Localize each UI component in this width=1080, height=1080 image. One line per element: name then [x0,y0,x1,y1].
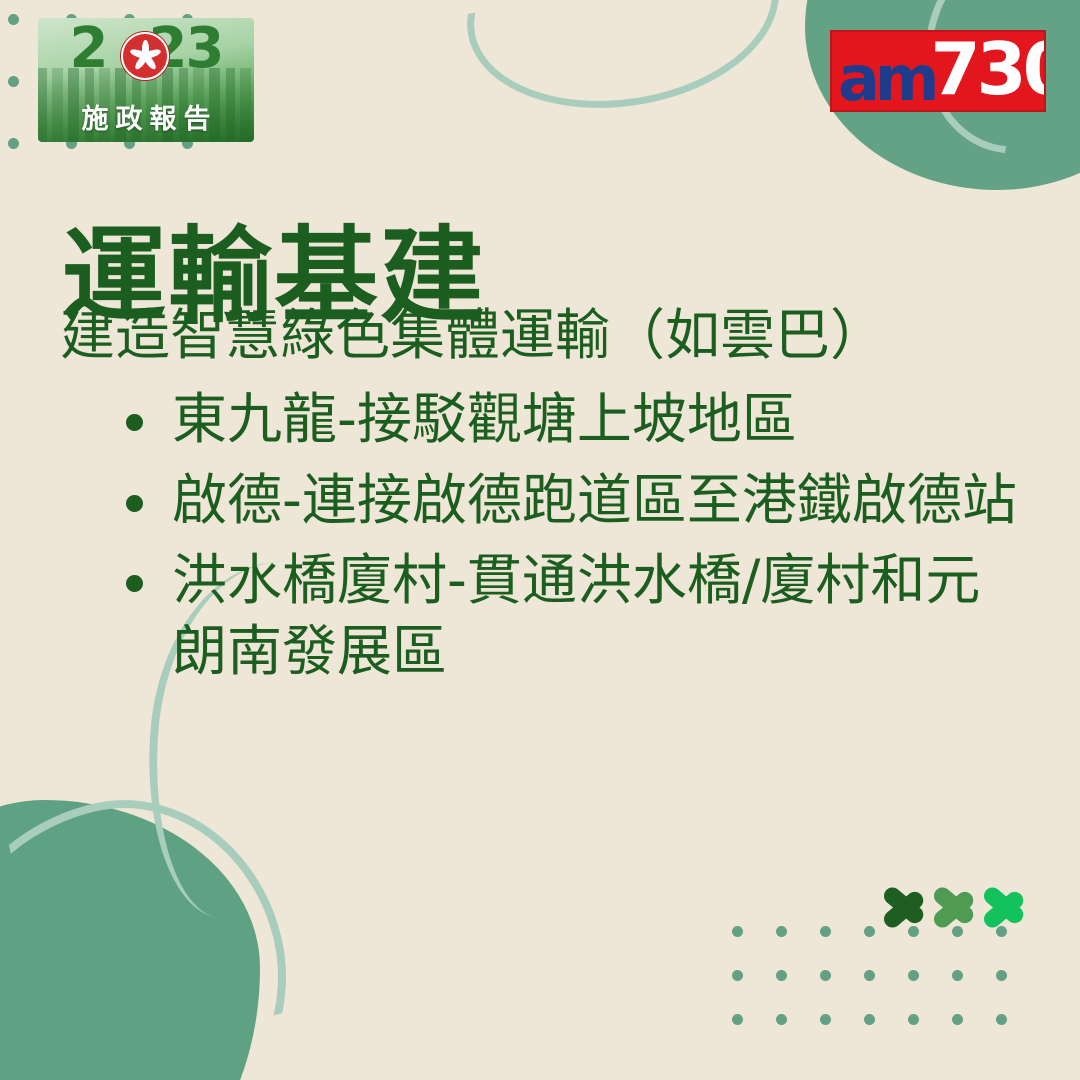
chevron-arrows-group [886,862,1036,936]
policy-address-infographic-card: 223 施政報告 am 730 運輸基建 建造智慧綠色集體運輸（如雲巴） 東九龍… [0,0,1080,1080]
decorative-dot [8,76,19,87]
decorative-dot [864,970,875,981]
decorative-dot [820,970,831,981]
decorative-dot [776,970,787,981]
decorative-blob-bottom-left [0,800,260,1080]
decorative-dot [864,926,875,937]
am730-logo-730-text: 730 [930,40,1046,99]
decorative-curve-bottom-left [0,767,323,1080]
decorative-dot [776,926,787,937]
policy-address-logo: 223 施政報告 [38,18,254,142]
decorative-dot [820,1014,831,1025]
decorative-dot [732,1014,743,1025]
decorative-dot [952,970,963,981]
logo-year-prefix: 2 [70,18,107,81]
policy-address-label: 施政報告 [38,97,254,136]
list-item: 洪水橋廈村-貫通洪水橋/廈村和元朗南發展區 [120,545,1020,686]
decorative-dot [820,926,831,937]
decorative-dot [732,970,743,981]
decorative-dot [8,138,19,149]
am730-logo: am 730 [830,30,1046,112]
list-item: 東九龍-接駁觀塘上坡地區 [120,384,1020,454]
decorative-dot [996,1014,1007,1025]
decorative-dot [8,14,19,25]
lead-paragraph: 建造智慧綠色集體運輸（如雲巴） [60,300,1020,370]
decorative-dot [776,1014,787,1025]
dot-grid-bottom-right [732,926,1040,1058]
chevron-right-icon-1 [882,862,936,936]
am730-logo-am-text: am [838,54,934,105]
decorative-dot [996,970,1007,981]
decorative-curve-top-right [453,0,793,129]
decorative-dot [908,1014,919,1025]
decorative-dot [732,926,743,937]
chevron-right-icon-2 [932,862,986,936]
decorative-dot [864,1014,875,1025]
decorative-dot [908,970,919,981]
bullet-list: 東九龍-接駁觀塘上坡地區 啟德-連接啟德跑道區至港鐵啟德站 洪水橋廈村-貫通洪水… [60,384,1020,686]
content-block: 建造智慧綠色集體運輸（如雲巴） 東九龍-接駁觀塘上坡地區 啟德-連接啟德跑道區至… [60,300,1020,696]
list-item: 啟德-連接啟德跑道區至港鐵啟德站 [120,465,1020,535]
hong-kong-bauhinia-emblem-icon [121,32,169,80]
decorative-dot [952,1014,963,1025]
chevron-right-icon-3 [982,862,1036,936]
